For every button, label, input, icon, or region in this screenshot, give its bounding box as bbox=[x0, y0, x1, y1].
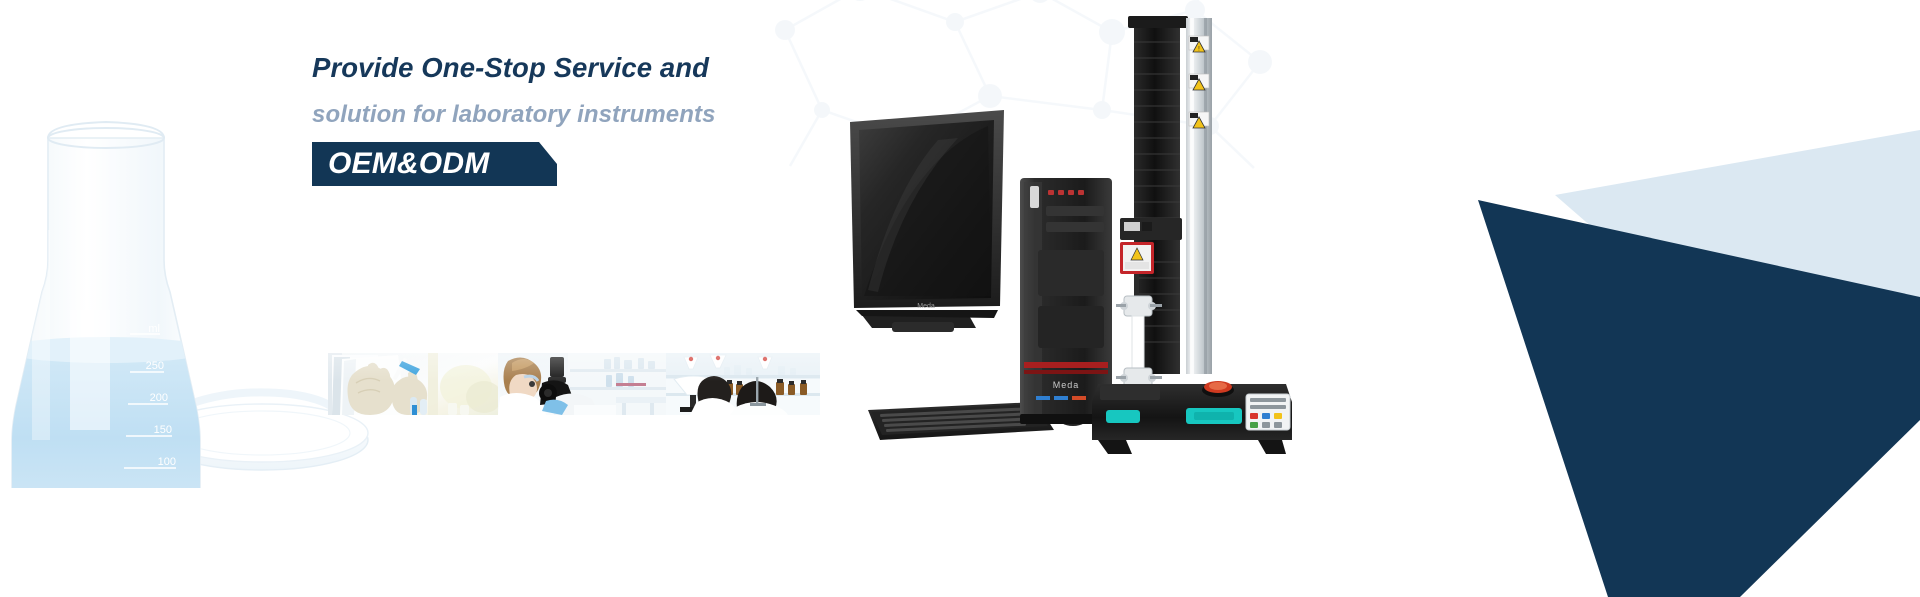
photo-laboratory-bench-team bbox=[666, 353, 820, 415]
svg-text:200: 200 bbox=[150, 392, 168, 404]
guide-column bbox=[1186, 18, 1212, 374]
oem-odm-badge: OEM&ODM bbox=[312, 142, 557, 186]
photo-pipetting-gloved-hands bbox=[328, 353, 498, 415]
svg-text:250: 250 bbox=[146, 360, 164, 372]
hero-banner: ml 250 200 150 100 Provide One-Stop Serv… bbox=[0, 0, 1920, 597]
tower-brand-label: Meda bbox=[1053, 380, 1080, 390]
pale-blue-wedge-shape bbox=[1555, 130, 1920, 330]
svg-text:100: 100 bbox=[158, 456, 176, 468]
navy-arrow-shape bbox=[1478, 200, 1920, 597]
pale-blue-wedge-shape-lower bbox=[1670, 295, 1920, 420]
erlenmeyer-flask: ml 250 200 150 100 bbox=[2, 122, 210, 488]
desktop-monitor: Meda bbox=[850, 110, 1004, 332]
svg-text:ml: ml bbox=[148, 323, 160, 335]
machine-base bbox=[1092, 381, 1292, 454]
lab-photo-strip bbox=[328, 353, 820, 415]
accessible-description: Laboratory instrument one-stop service a… bbox=[0, 16, 1, 17]
photo-researcher-microscope bbox=[498, 353, 666, 415]
warning-label-group: ! bbox=[1189, 36, 1209, 128]
oem-odm-label: OEM&ODM bbox=[328, 146, 489, 182]
universal-testing-machine: ! bbox=[1090, 12, 1320, 457]
monitor-brand-label: Meda bbox=[917, 303, 935, 310]
svg-text:150: 150 bbox=[154, 424, 172, 436]
